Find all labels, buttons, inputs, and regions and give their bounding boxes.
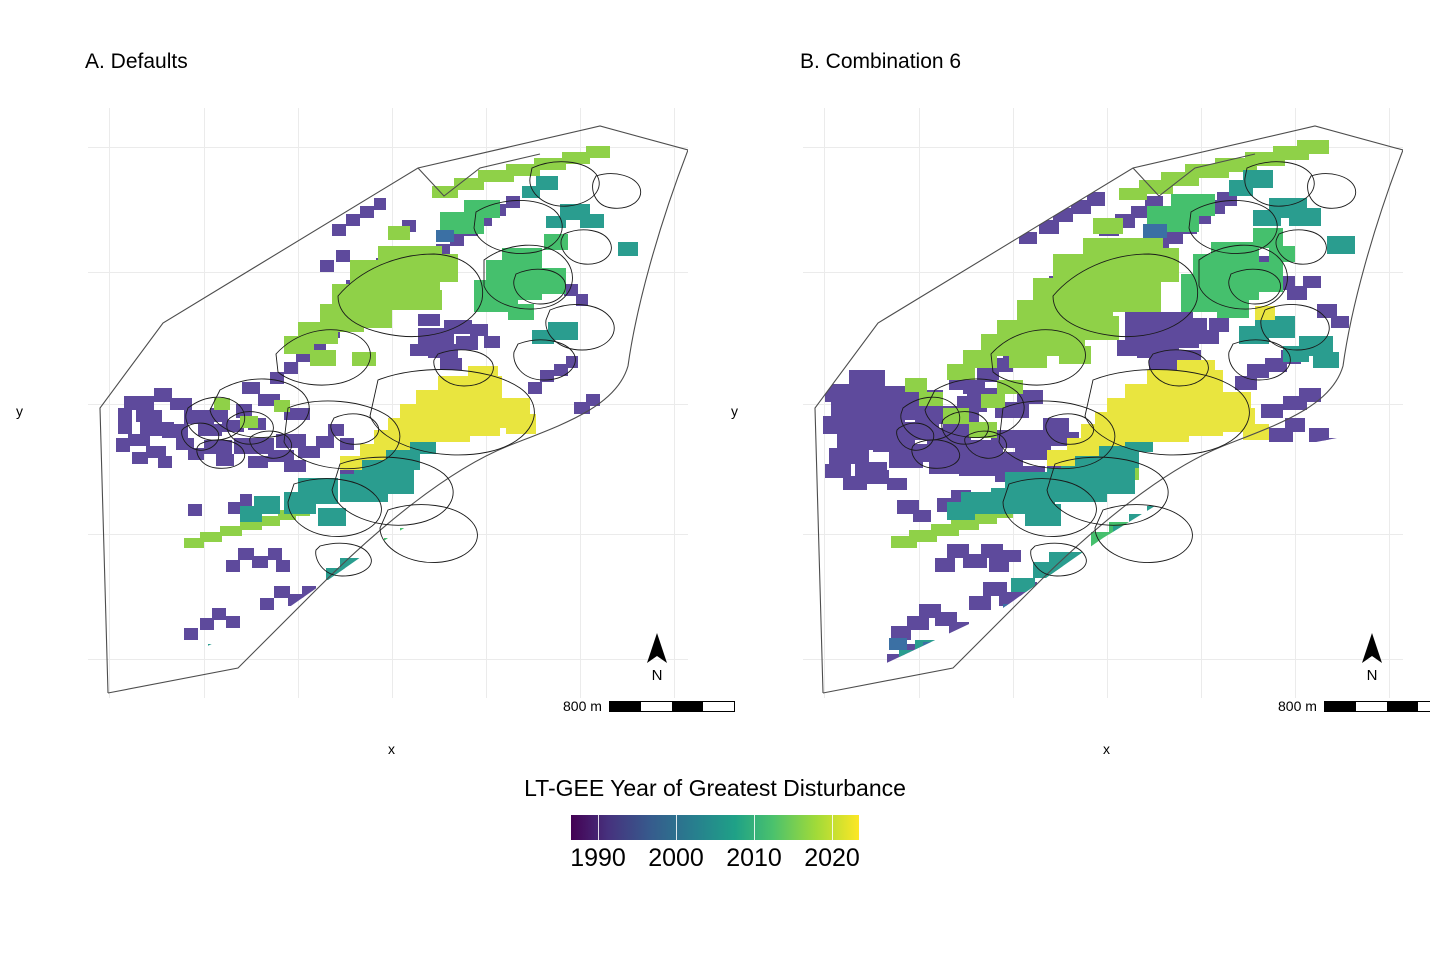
figure-root: A. Defaults y x 44.08°N 44.07°N 44.06°N bbox=[0, 0, 1430, 953]
panel-a-scalebar-label: 800 m bbox=[563, 698, 602, 714]
panel-b-title: B. Combination 6 bbox=[800, 50, 961, 74]
panel-a-plot-area: 44.08°N 44.07°N 44.06°N 44.05°N 44.04°N … bbox=[88, 108, 688, 698]
panel-b-scalebar-bar bbox=[1324, 701, 1430, 712]
panel-a-axis-title-x: x bbox=[388, 741, 395, 757]
legend-title: LT-GEE Year of Greatest Disturbance bbox=[0, 775, 1430, 802]
panel-b-north-arrow: N bbox=[1355, 631, 1389, 683]
panel-b-axis-title-x: x bbox=[1103, 741, 1110, 757]
panel-b-axis-title-y: y bbox=[731, 403, 738, 419]
legend-colorbar bbox=[571, 815, 859, 840]
legend-tick-label: 2010 bbox=[726, 844, 782, 873]
panel-b: B. Combination 6 y x 44.08°N 44.07°N 44.… bbox=[715, 0, 1430, 770]
panel-a-map bbox=[88, 108, 688, 698]
legend-colorbar-gradient bbox=[571, 815, 859, 840]
legend-tick-label: 2000 bbox=[648, 844, 704, 873]
panel-a: A. Defaults y x 44.08°N 44.07°N 44.06°N bbox=[0, 0, 715, 770]
panel-b-scalebar: 800 m bbox=[1278, 698, 1430, 714]
panel-a-disturbance-raster bbox=[116, 146, 638, 668]
panel-a-north-arrow: N bbox=[640, 631, 674, 683]
panel-b-scalebar-label: 800 m bbox=[1278, 698, 1317, 714]
panel-a-axis-title-y: y bbox=[16, 403, 23, 419]
panel-a-title: A. Defaults bbox=[85, 50, 188, 74]
panel-b-map bbox=[803, 108, 1403, 698]
legend-tick-label: 1990 bbox=[570, 844, 626, 873]
panel-a-scalebar: 800 m bbox=[563, 698, 735, 714]
legend-tick-label: 2020 bbox=[804, 844, 860, 873]
legend: LT-GEE Year of Greatest Disturbance 1990… bbox=[0, 775, 1430, 878]
panel-b-plot-area: 44.08°N 44.07°N 44.06°N 44.05°N 44.04°N … bbox=[803, 108, 1403, 698]
legend-tick-labels: 1990 2000 2010 2020 bbox=[571, 844, 859, 878]
panel-a-north-label: N bbox=[652, 667, 663, 683]
panel-b-disturbance-raster bbox=[823, 140, 1355, 674]
panel-b-north-label: N bbox=[1367, 667, 1378, 683]
